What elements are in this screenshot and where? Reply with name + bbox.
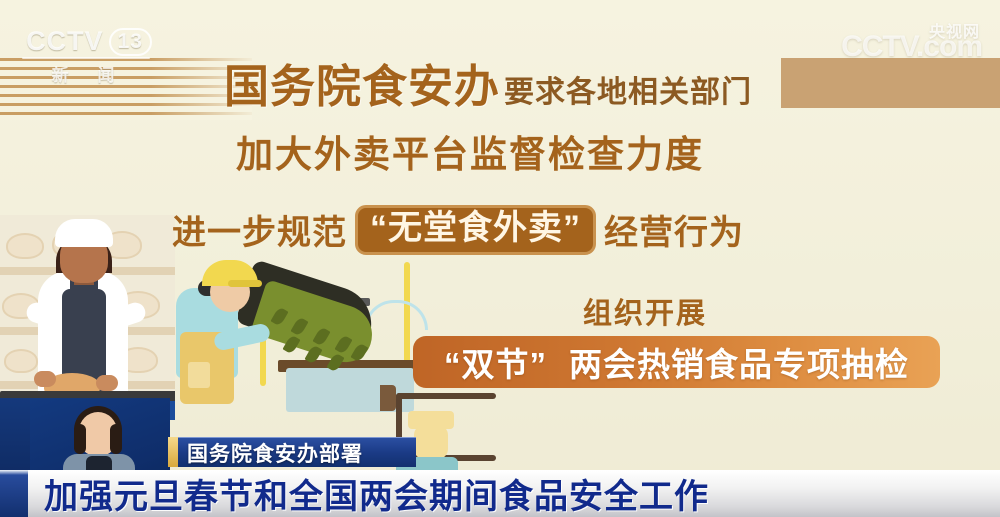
machine-drum (414, 425, 448, 459)
factory-worker-pocket (188, 362, 210, 388)
cctv-logo-underline (22, 57, 150, 59)
bakery-illustration (0, 215, 175, 420)
machine-pipe (396, 393, 496, 399)
lower-third-headline: 加强元旦春节和全国两会期间食品安全工作 (44, 469, 709, 517)
lower-third-bar-left-cap (0, 470, 28, 517)
broadcast-screen: CCTV 13 新 闻 央视网 CCTV.com (0, 0, 1000, 517)
decorative-stripes-fade (0, 58, 252, 120)
kicker-gold-accent (168, 437, 178, 467)
interpreter-hair-left (74, 424, 86, 454)
lower-third-kicker: 国务院食安办部署 (178, 437, 416, 467)
baker-chef-hat (55, 219, 113, 247)
factory-hose (364, 300, 428, 330)
baker-right-hand (96, 375, 118, 391)
lower-third-bar-highlight (0, 470, 1000, 475)
lower-third-kicker-text: 国务院食安办部署 (187, 438, 363, 468)
machine-chute (380, 385, 396, 411)
tan-accent-block (781, 58, 1000, 108)
lower-third-bar: 加强元旦春节和全国两会期间食品安全工作 (0, 470, 1000, 517)
bread-loaf (6, 233, 44, 259)
interpreter-hair-right (110, 424, 122, 454)
bread-loaf (4, 349, 38, 373)
baker-left-hand (34, 371, 56, 387)
hard-hat-brim (228, 280, 262, 287)
